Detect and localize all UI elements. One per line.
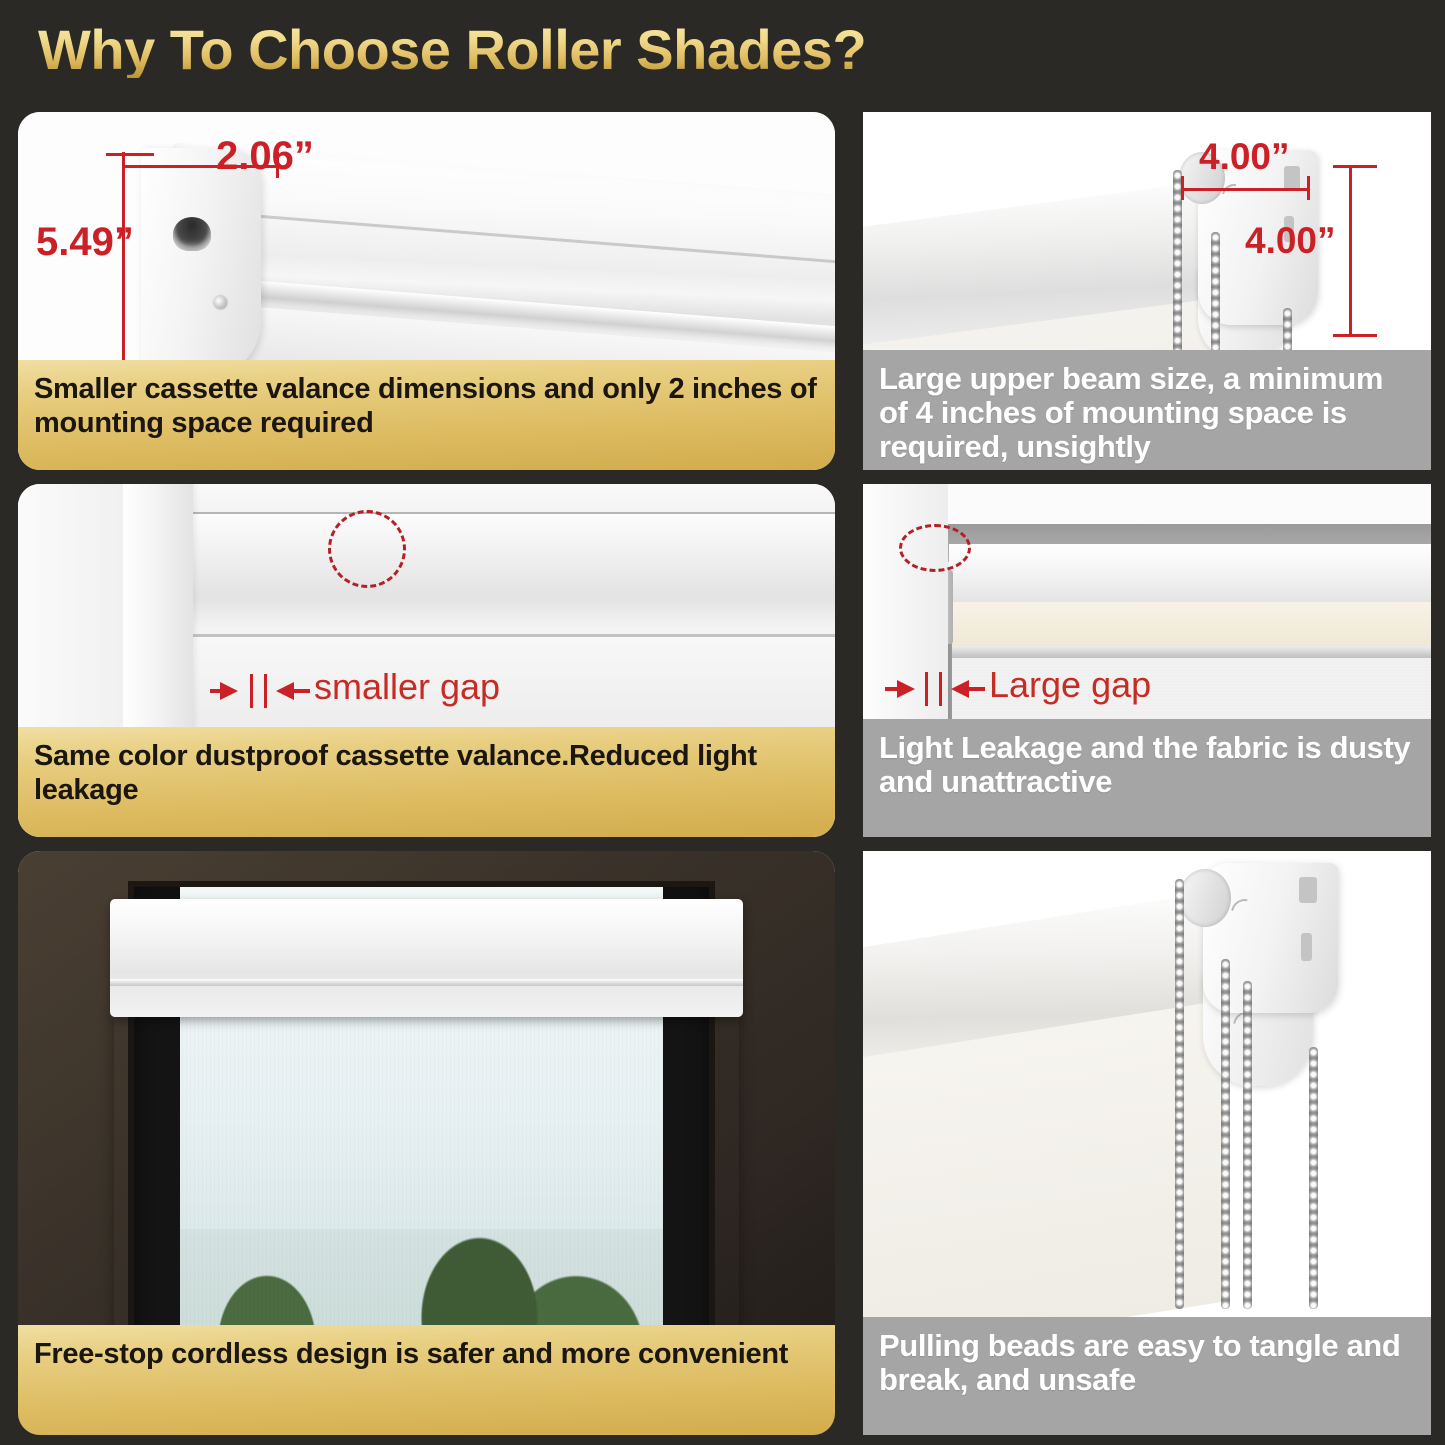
panel-cell-5: Free-stop cordless design is safer and m… [0, 847, 855, 1445]
bracket-swirl-icon [1226, 894, 1265, 933]
gap-mark [939, 672, 942, 706]
panel-6: Pulling beads are easy to tangle and bre… [863, 851, 1431, 1435]
bracket-slot-icon [1299, 877, 1317, 903]
panel-cell-1: 5.49” 2.06” Smaller cassette valance dim… [0, 108, 855, 480]
page-title: Why To Choose Roller Shades? [38, 22, 866, 78]
dimension-tick-left [1181, 176, 1184, 200]
roller-disc-graphic [1179, 869, 1231, 927]
gap-mark [925, 672, 928, 706]
cassette-valance-graphic [183, 512, 835, 630]
dimension-label-height: 4.00” [1245, 220, 1336, 262]
gap-arrow-left-icon [951, 680, 969, 698]
cassette-valance-graphic [110, 899, 743, 1017]
cream-fabric-graphic [949, 602, 1431, 652]
gap-arrow-stem [885, 687, 901, 691]
cassette-endcap-graphic [141, 148, 261, 380]
dimension-tick-left [122, 152, 125, 178]
dimension-label-width: 4.00” [1199, 136, 1290, 178]
dimension-line-vertical [1349, 166, 1352, 336]
dimension-tick-top [1333, 165, 1377, 168]
bead-chain-graphic [1309, 1047, 1318, 1309]
panel-4: Large gap Light Leakage and the fabric i… [863, 484, 1431, 837]
panel-cell-3: smaller gap Same color dustproof cassett… [0, 480, 855, 847]
bead-chain-graphic [1175, 879, 1184, 1309]
panel-cell-6: Pulling beads are easy to tangle and bre… [855, 847, 1445, 1445]
panel-1-caption: Smaller cassette valance dimensions and … [18, 360, 835, 470]
gap-arrow-stem [210, 689, 226, 693]
gap-mark [264, 674, 267, 708]
bead-chain-graphic [1173, 170, 1182, 370]
panel-6-caption: Pulling beads are easy to tangle and bre… [863, 1317, 1431, 1435]
panel-5: Free-stop cordless design is safer and m… [18, 851, 835, 1435]
dimension-tick-right [1307, 176, 1310, 200]
rail-graphic [949, 646, 1431, 658]
gap-arrow-stem [969, 687, 985, 691]
dimension-label-width: 2.06” [216, 134, 314, 179]
panel-cell-4: Large gap Light Leakage and the fabric i… [855, 480, 1445, 847]
dimension-line-horizontal [1181, 188, 1309, 191]
dimension-label-height: 5.49” [36, 220, 134, 265]
panel-5-caption: Free-stop cordless design is safer and m… [18, 1325, 835, 1435]
panel-1: 5.49” 2.06” Smaller cassette valance dim… [18, 112, 835, 470]
bead-chain-graphic [1243, 981, 1252, 1309]
bracket-slot-icon [1301, 933, 1312, 961]
gap-arrow-stem [294, 689, 310, 693]
panel-2: 4.00” 4.00” Large upper beam size, a min… [863, 112, 1431, 470]
gap-mark [250, 674, 253, 708]
panel-cell-2: 4.00” 4.00” Large upper beam size, a min… [855, 108, 1445, 480]
panel-4-caption: Light Leakage and the fabric is dusty an… [863, 719, 1431, 837]
dimension-tick-top [106, 153, 154, 156]
gap-label-smaller: smaller gap [314, 666, 500, 708]
comparison-grid: 5.49” 2.06” Smaller cassette valance dim… [0, 108, 1445, 1445]
cassette-slot-graphic [173, 217, 211, 251]
panel-2-caption: Large upper beam size, a minimum of 4 in… [863, 350, 1431, 470]
gap-label-large: Large gap [989, 664, 1151, 706]
dimension-tick-bottom [1333, 334, 1377, 337]
panel-3-caption: Same color dustproof cassette valance.Re… [18, 727, 835, 837]
highlight-ellipse-icon [899, 524, 971, 572]
screw-icon [214, 296, 227, 309]
gap-arrow-left-icon [276, 682, 294, 700]
highlight-ellipse-icon [328, 510, 406, 588]
bead-chain-graphic [1221, 959, 1230, 1309]
panel-3: smaller gap Same color dustproof cassett… [18, 484, 835, 837]
